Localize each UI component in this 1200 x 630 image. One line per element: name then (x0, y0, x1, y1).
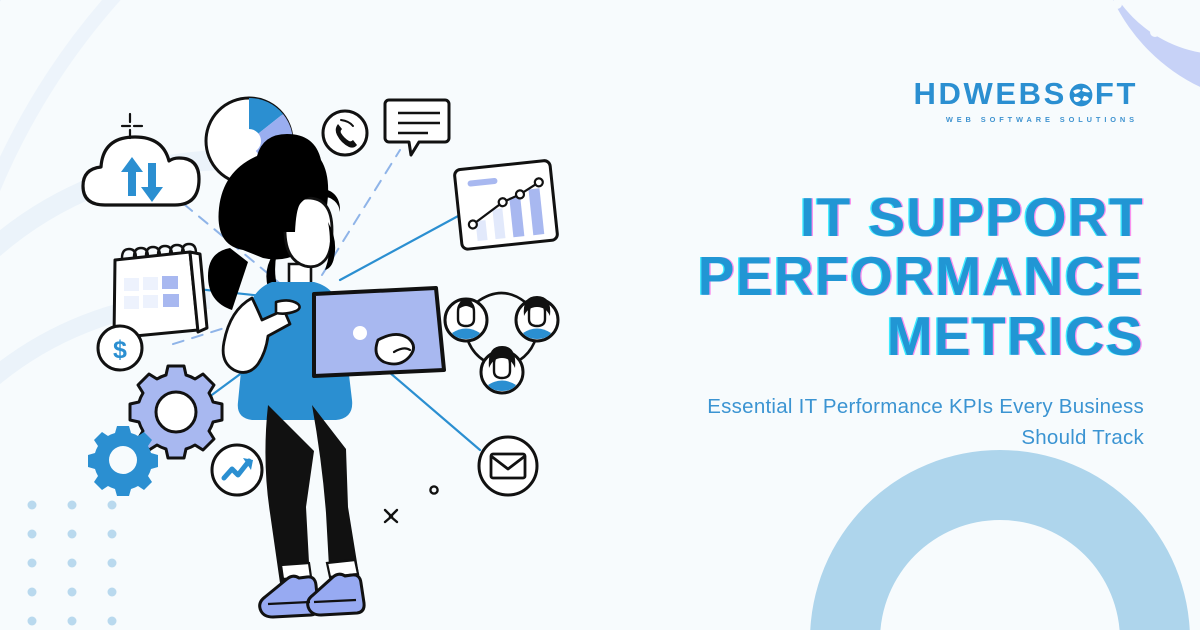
brand-logo[interactable]: HDWEBS FT WEB SOFTWARE SOLUTIONS (914, 78, 1138, 123)
illustration: $ (0, 0, 660, 630)
logo-wordmark: HDWEBS FT (914, 78, 1138, 109)
sparkle-mark-icon (385, 510, 397, 522)
headline-line-3: METRICS (624, 307, 1144, 366)
globe-icon (1068, 82, 1094, 108)
dot-mark-icon (430, 486, 437, 493)
headline-line-1: IT SUPPORT (624, 188, 1144, 247)
chat-bubble-icon (385, 100, 449, 155)
headline-block: IT SUPPORT PERFORMANCE METRICS Essential… (624, 188, 1144, 454)
bottom-right-ring (810, 450, 1190, 630)
dashboard-chart-icon (454, 160, 558, 250)
crosshair-mark-icon (122, 114, 142, 138)
avatar (516, 296, 558, 341)
page-title: IT SUPPORT PERFORMANCE METRICS (624, 188, 1144, 366)
cloud-sync-icon (83, 137, 199, 205)
dollar-cost-icon: $ (98, 326, 142, 370)
avatar (445, 298, 487, 341)
svg-text:$: $ (113, 336, 127, 364)
page-subtitle: Essential IT Performance KPIs Every Busi… (624, 392, 1144, 454)
avatar (481, 346, 523, 393)
headline-line-2: PERFORMANCE (624, 247, 1144, 306)
email-icon (479, 437, 537, 495)
gear-small-icon (88, 426, 158, 496)
calendar-icon (114, 244, 207, 338)
banner-root: $ (0, 0, 1200, 630)
woman-with-laptop (208, 134, 444, 617)
logo-wordmark-part2: FT (1095, 78, 1138, 109)
logo-wordmark-part1: HDWEBS (914, 78, 1067, 109)
logo-tagline: WEB SOFTWARE SOLUTIONS (914, 116, 1138, 123)
subtitle-line-2: Should Track (1021, 426, 1144, 449)
team-network-icon (445, 293, 558, 393)
phone-support-icon (323, 111, 367, 155)
subtitle-line-1: Essential IT Performance KPIs Every Busi… (707, 395, 1144, 418)
trending-up-icon (212, 445, 262, 495)
